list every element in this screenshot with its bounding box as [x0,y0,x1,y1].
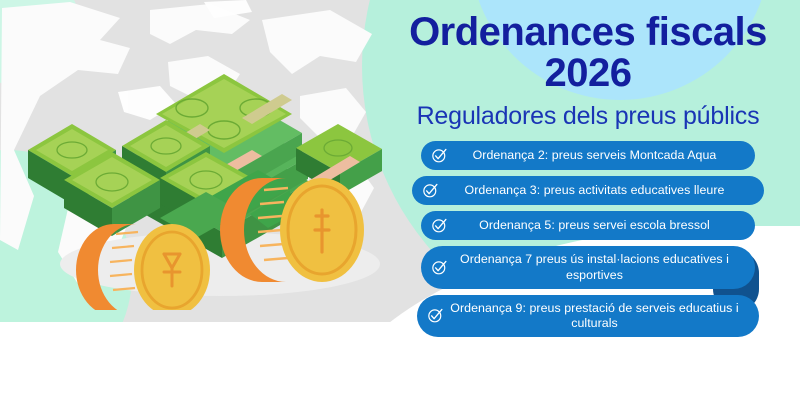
list-item[interactable]: Ordenança 2: preus serveis Montcada Aqua [421,141,755,170]
list-item-label: Ordenança 3: preus activitats educatives… [443,183,750,198]
poster-root: Ordenances fiscals 2026 Reguladores dels… [0,0,800,400]
list-item-label: Ordenança 7 preus ús instal·lacions educ… [452,252,741,282]
check-circle-icon [431,147,448,164]
list-item-wrap: Ordenança 5: preus servei escola bressol [421,211,755,240]
list-item-wrap: Ordenança 9: preus prestació de serveis … [417,295,759,337]
check-circle-icon [431,259,448,276]
background-white-bottom [0,322,420,400]
list-item-label: Ordenança 2: preus serveis Montcada Aqua [452,148,741,163]
page-subtitle: Reguladores dels preus públics [417,102,760,131]
ordinance-list: Ordenança 2: preus serveis Montcada Aqua… [382,141,794,337]
list-item[interactable]: Ordenança 7 preus ús instal·lacions educ… [421,246,755,288]
list-item-wrap: Ordenança 2: preus serveis Montcada Aqua [421,141,755,170]
page-title: Ordenances fiscals 2026 [409,12,767,94]
list-item-wrap: Ordenança 3: preus activitats educatives… [412,176,764,205]
content-column: Ordenances fiscals 2026 Reguladores dels… [382,8,794,337]
check-circle-icon [422,182,439,199]
list-item[interactable]: Ordenança 9: preus prestació de serveis … [417,295,759,337]
money-illustration [10,30,410,310]
list-item[interactable]: Ordenança 3: preus activitats educatives… [412,176,764,205]
list-item-label: Ordenança 9: preus prestació de serveis … [448,301,745,331]
list-item[interactable]: Ordenança 5: preus servei escola bressol [421,211,755,240]
list-item-wrap: Ordenança 7 preus ús instal·lacions educ… [421,246,755,288]
check-circle-icon [427,307,444,324]
list-item-label: Ordenança 5: preus servei escola bressol [452,218,741,233]
check-circle-icon [431,217,448,234]
